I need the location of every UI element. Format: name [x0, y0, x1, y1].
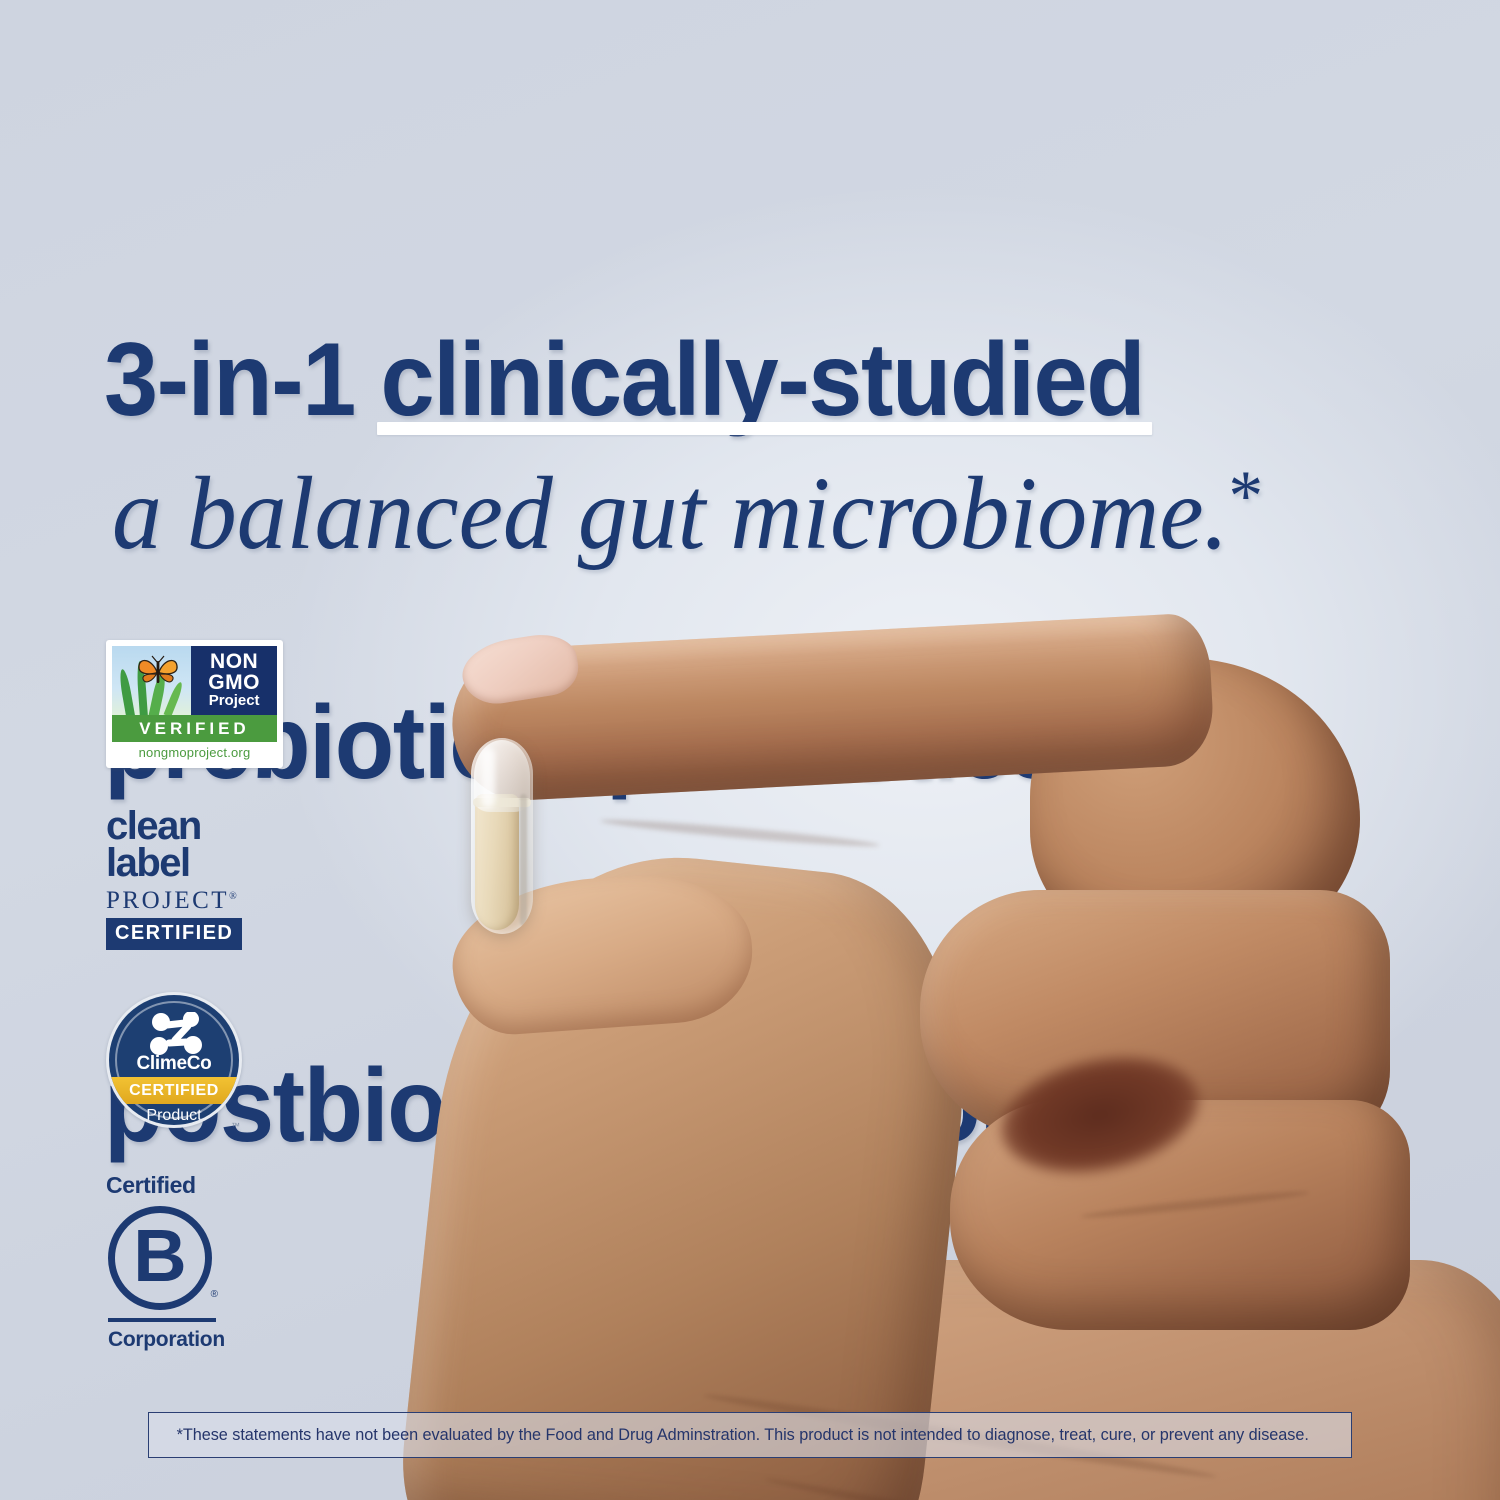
registered-mark: ®	[229, 891, 237, 902]
clean-label-word-clean: clean	[106, 808, 256, 845]
climeco-certified-banner: CERTIFIED	[106, 1077, 242, 1104]
supplement-capsule	[471, 738, 533, 934]
headline-prefix: 3-in-1	[104, 322, 381, 438]
capsule-highlight	[481, 748, 495, 808]
headline-italic-text: a balanced gut microbiome.	[112, 456, 1229, 571]
bcorp-corporation-word: Corporation	[108, 1328, 226, 1352]
badge-climeco-certified: ClimeCo CERTIFIED Product ™	[106, 992, 242, 1128]
climeco-brand: ClimeCo	[109, 1053, 239, 1075]
bcorp-certified-word: Certified	[106, 1172, 226, 1198]
non-gmo-non: NON	[210, 652, 258, 673]
capsule-powder-fill	[475, 794, 519, 930]
capsule-side-edge	[520, 794, 527, 926]
fda-disclaimer-text: *These statements have not been evaluate…	[149, 1426, 1309, 1445]
asterisk-mark: *	[1229, 456, 1264, 536]
climeco-molecule-icon	[147, 1012, 209, 1056]
skin-crease	[600, 816, 880, 850]
product-marketing-image: 3-in-1 clinically-studied prebiotics, pr…	[0, 0, 1500, 1500]
non-gmo-url: nongmoproject.org	[112, 742, 277, 762]
registered-mark: ®	[211, 1289, 218, 1300]
bcorp-letter-b: B	[108, 1206, 212, 1310]
badge-clean-label-project: clean label PROJECT® CERTIFIED	[106, 808, 256, 950]
trademark-mark: ™	[231, 1121, 240, 1131]
non-gmo-verified-bar: VERIFIED	[112, 715, 277, 742]
non-gmo-gmo: GMO	[208, 673, 260, 694]
clean-label-word-label: label	[106, 845, 256, 882]
certification-badges: NON GMO Project VERIFIED nongmoproject.o…	[106, 640, 306, 1352]
butterfly-icon	[136, 655, 180, 689]
non-gmo-project: Project	[209, 694, 260, 709]
clean-label-project-word: PROJECT®	[106, 884, 256, 914]
non-gmo-illustration	[112, 646, 191, 715]
non-gmo-text-block: NON GMO Project	[191, 646, 277, 715]
bcorp-divider	[108, 1318, 216, 1322]
badge-non-gmo-project: NON GMO Project VERIFIED nongmoproject.o…	[106, 640, 283, 768]
badge-b-corporation: Certified B ® Corporation	[106, 1172, 226, 1352]
fda-disclaimer-box: *These statements have not been evaluate…	[148, 1412, 1352, 1458]
climeco-product-label: Product	[109, 1107, 239, 1125]
headline-line-1: 3-in-1 clinically-studied	[104, 320, 1338, 441]
headline-underlined-phrase: clinically-studied	[381, 320, 1145, 441]
headline-italic-line: a balanced gut microbiome.*	[112, 440, 1398, 570]
clean-label-certified-bar: CERTIFIED	[106, 918, 242, 950]
bcorp-circle-b-icon: B ®	[108, 1206, 212, 1310]
